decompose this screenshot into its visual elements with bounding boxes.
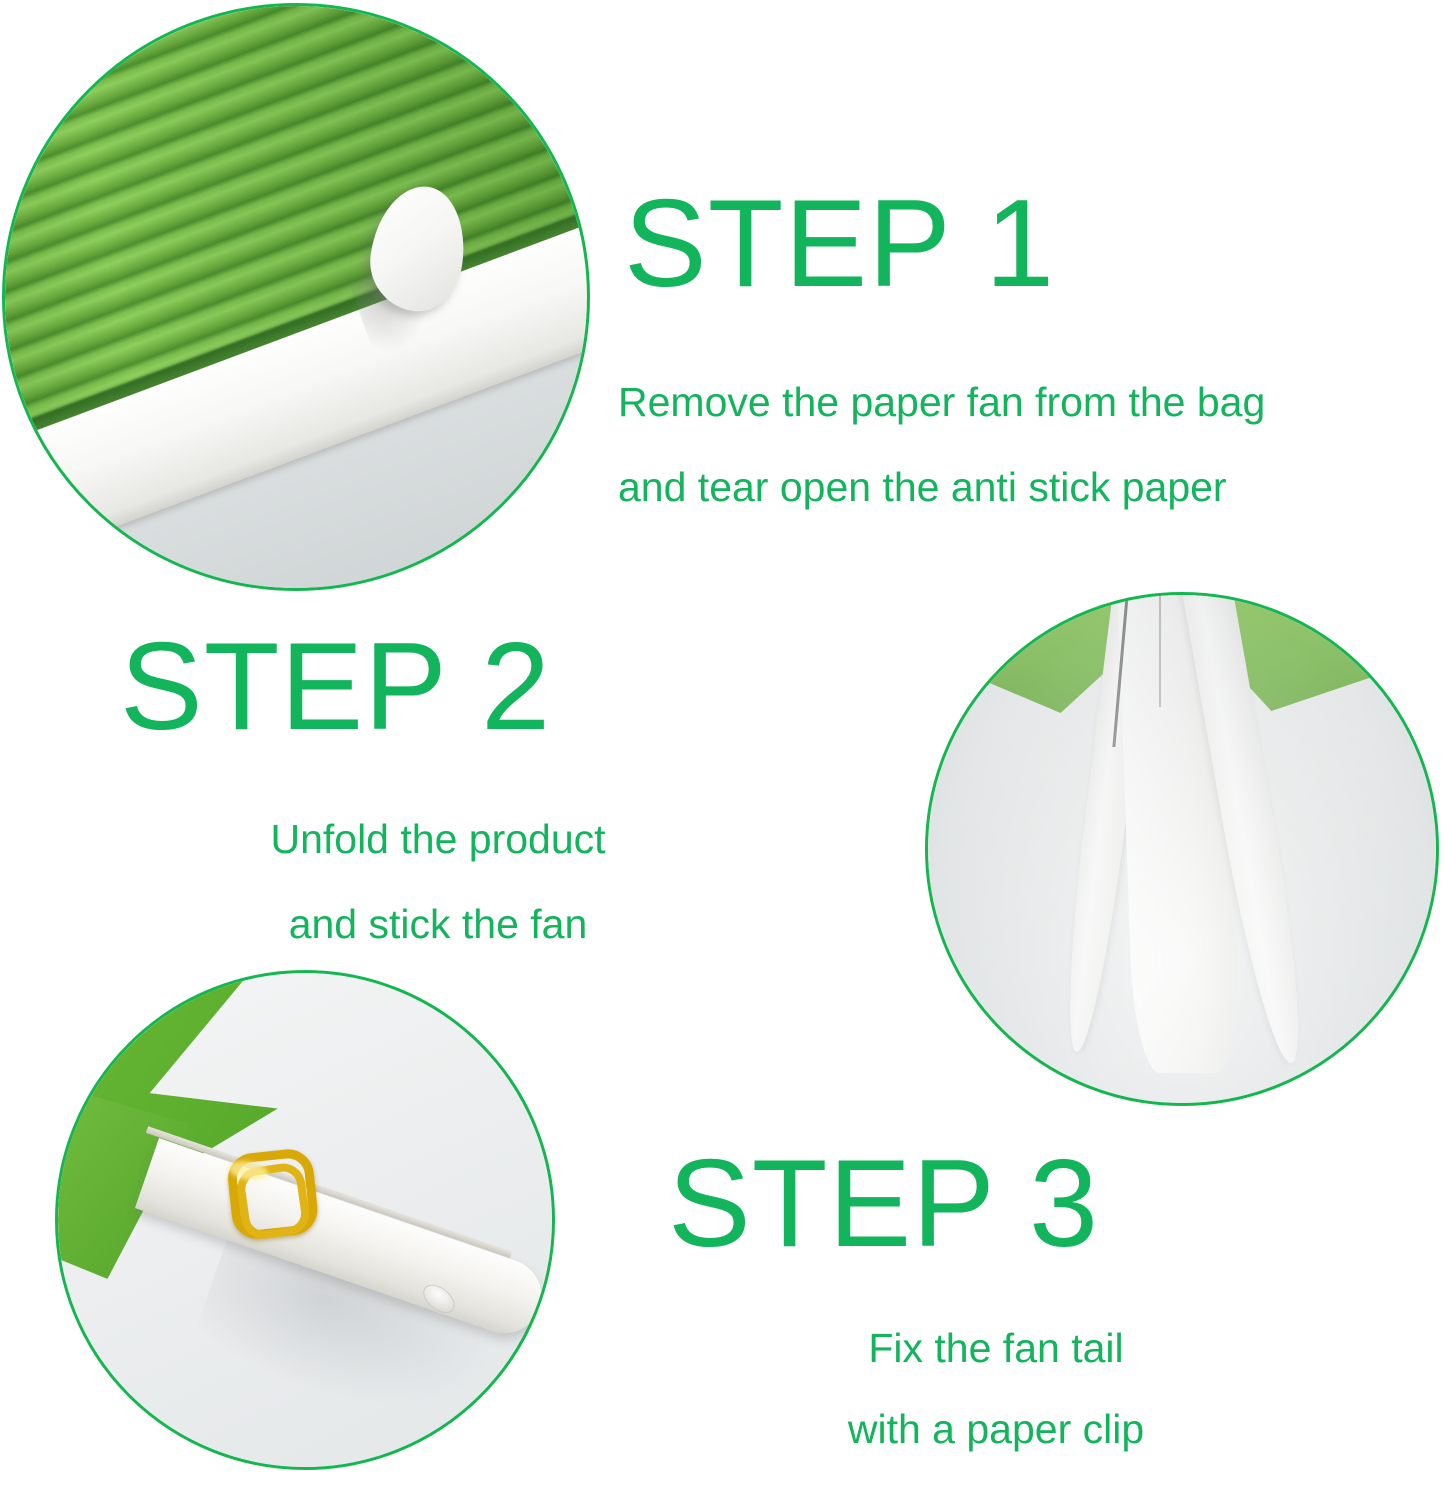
step-1-photo	[2, 3, 590, 591]
step-2-title: STEP 2	[120, 625, 758, 749]
step-1-line-1: Remove the paper fan from the bag	[618, 382, 1265, 423]
step-3-text-block: STEP 3 Fix the fan tail with a paper cli…	[666, 1142, 1326, 1490]
step-2-text-block: STEP 2 Unfold the product and stick the …	[118, 625, 758, 989]
step-2-line-1: Unfold the product	[118, 819, 758, 860]
step-1-title: STEP 1	[624, 182, 1265, 306]
step-2-photo-content	[928, 595, 1436, 1103]
step-1-photo-content	[5, 6, 587, 588]
step-3-line-1: Fix the fan tail	[666, 1328, 1326, 1369]
step-3-title: STEP 3	[668, 1142, 1326, 1266]
step-3-photo	[55, 970, 555, 1470]
instruction-graphic: STEP 1 Remove the paper fan from the bag…	[0, 0, 1445, 1498]
step-2-line-2: and stick the fan	[118, 904, 758, 945]
step-1-text-block: STEP 1 Remove the paper fan from the bag…	[618, 182, 1265, 552]
photo-vignette	[928, 595, 1436, 1103]
step-2-photo	[925, 592, 1439, 1106]
step-3-photo-content	[58, 973, 552, 1467]
step-1-line-2: and tear open the anti stick paper	[618, 467, 1265, 508]
step-3-line-2: with a paper clip	[666, 1409, 1326, 1450]
